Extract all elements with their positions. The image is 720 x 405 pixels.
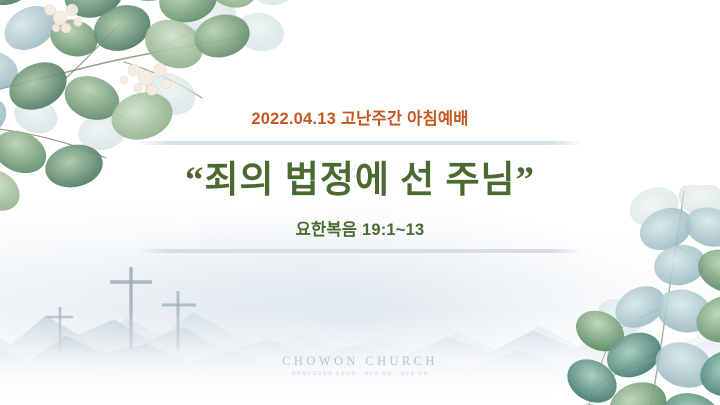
divider-above-title bbox=[138, 141, 582, 145]
church-logo: CHOWON CHURCH 대한예수교장로회 조원교회 · 새로운 마음 · 새… bbox=[0, 354, 720, 377]
church-logo-subtitle: 대한예수교장로회 조원교회 · 새로운 마음 · 새로운 교회 bbox=[0, 371, 720, 377]
sermon-title: “죄의 법정에 선 주님” bbox=[0, 158, 720, 204]
scripture-reference: 요한복음 19:1~13 bbox=[0, 216, 720, 240]
divider-below-verse bbox=[138, 249, 582, 253]
service-date-and-name: 2022.04.13 고난주간 아침예배 bbox=[0, 108, 720, 131]
church-logo-name: CHOWON CHURCH bbox=[0, 354, 720, 369]
sermon-title-slide: 2022.04.13 고난주간 아침예배 “죄의 법정에 선 주님” 요한복음 … bbox=[0, 0, 720, 405]
title-block: 2022.04.13 고난주간 아침예배 “죄의 법정에 선 주님” 요한복음 … bbox=[0, 108, 720, 253]
